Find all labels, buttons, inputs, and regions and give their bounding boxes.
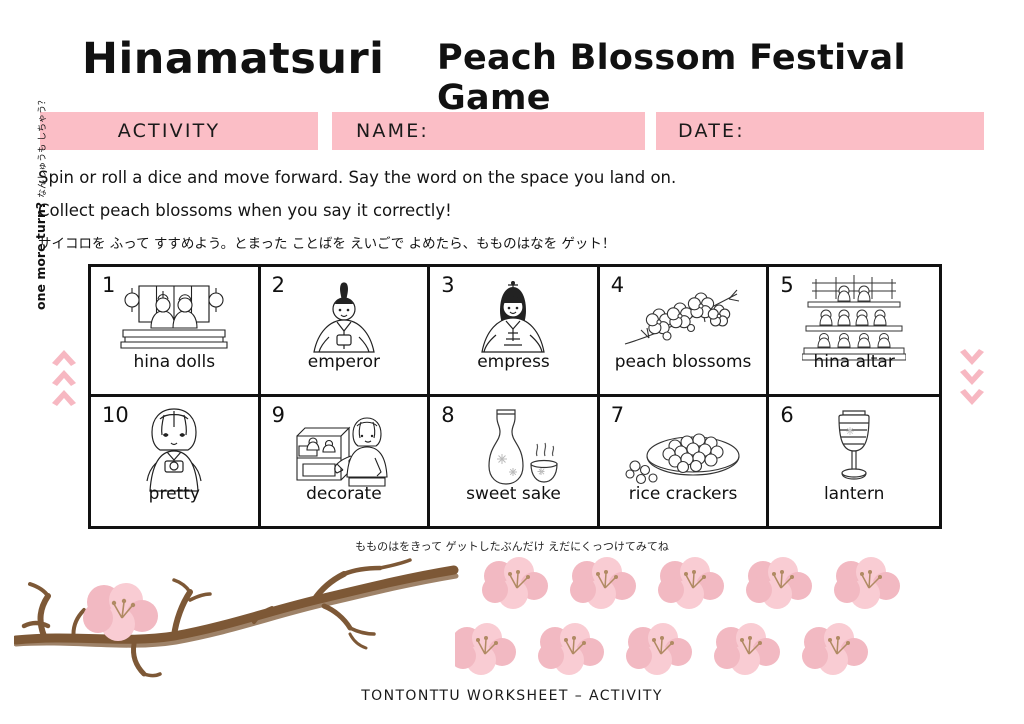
cell-label: emperor	[261, 352, 428, 372]
cell-label: hina altar	[769, 352, 939, 372]
date-field[interactable]: DATE:	[656, 112, 984, 150]
board-cell[interactable]: 6 lantern	[769, 397, 939, 527]
blossom-cutout	[746, 557, 812, 609]
chevron-up-group	[50, 348, 78, 407]
chevron-up-icon	[50, 368, 78, 387]
one-more-turn-japanese: なんしゅうも しちゃう？	[35, 96, 48, 198]
board-cell[interactable]: 1 hina dolls	[91, 267, 261, 397]
cell-label: decorate	[261, 484, 428, 504]
board-cell[interactable]: 4	[600, 267, 770, 397]
cell-label: lantern	[769, 484, 939, 504]
blossom-cutout	[455, 623, 516, 675]
girl-kimono-icon	[91, 405, 258, 495]
girl-decorating-icon	[261, 405, 428, 495]
chevron-up-icon	[50, 348, 78, 367]
board-cell[interactable]: 9	[261, 397, 431, 527]
instruction-line-1: Spin or roll a dice and move forward. Sa…	[38, 168, 676, 187]
board-cell[interactable]: 5	[769, 267, 939, 397]
blossom-on-branch	[83, 583, 158, 641]
blossom-cutout	[802, 623, 868, 675]
name-label: NAME:	[332, 112, 645, 150]
chevron-down-icon	[958, 388, 986, 407]
board-cell[interactable]: 8 sweet sake	[430, 397, 600, 527]
chevron-down-icon	[958, 348, 986, 367]
cell-label: pretty	[91, 484, 258, 504]
cell-label: peach blossoms	[600, 352, 767, 372]
board-cell[interactable]: 2 emperor	[261, 267, 431, 397]
activity-field[interactable]: ACTIVITY	[40, 112, 318, 150]
peach-branch-illustration	[14, 548, 464, 688]
lantern-icon	[769, 405, 939, 495]
blossom-cutout	[714, 623, 780, 675]
blossom-cutout	[570, 557, 636, 609]
blossom-cutout	[482, 557, 548, 609]
footer-credit: TONTONTTU WORKSHEET – ACTIVITY	[0, 688, 1024, 704]
chevron-down-icon	[958, 368, 986, 387]
title-row: Hinamatsuri Peach Blossom Festival Game	[0, 34, 1024, 96]
activity-label: ACTIVITY	[40, 112, 318, 150]
instruction-japanese: サイコロを ふって すすめよう。とまった ことばを えいごで よめたら、もものは…	[38, 232, 615, 252]
board-cell[interactable]: 10 pretty	[91, 397, 261, 527]
blossom-cutout	[538, 623, 604, 675]
worksheet-page: Hinamatsuri Peach Blossom Festival Game …	[0, 0, 1024, 724]
board-cell[interactable]: 7	[600, 397, 770, 527]
cell-label: rice crackers	[600, 484, 767, 504]
blossom-cutout	[658, 557, 724, 609]
page-subtitle: Peach Blossom Festival Game	[437, 38, 1024, 118]
one-more-turn-label: one more turn? なんしゅうも しちゃう？	[8, 130, 48, 310]
instruction-line-2: Collect peach blossoms when you say it c…	[38, 201, 452, 220]
name-field[interactable]: NAME:	[332, 112, 645, 150]
board-cell[interactable]: 3 empress	[430, 267, 600, 397]
blossom-cutout	[834, 557, 900, 609]
cell-label: hina dolls	[91, 352, 258, 372]
cell-label: empress	[430, 352, 597, 372]
rice-crackers-icon	[600, 405, 767, 495]
sake-bottle-icon	[430, 405, 597, 495]
game-board: 1 hina dolls	[88, 264, 942, 529]
one-more-turn-english: one more turn?	[33, 202, 48, 310]
chevron-up-icon	[50, 388, 78, 407]
cutout-blossoms	[455, 552, 935, 682]
chevron-down-group	[958, 348, 986, 407]
cell-label: sweet sake	[430, 484, 597, 504]
date-label: DATE:	[656, 112, 984, 150]
page-title: Hinamatsuri	[82, 34, 384, 84]
blossom-cutout	[626, 623, 692, 675]
